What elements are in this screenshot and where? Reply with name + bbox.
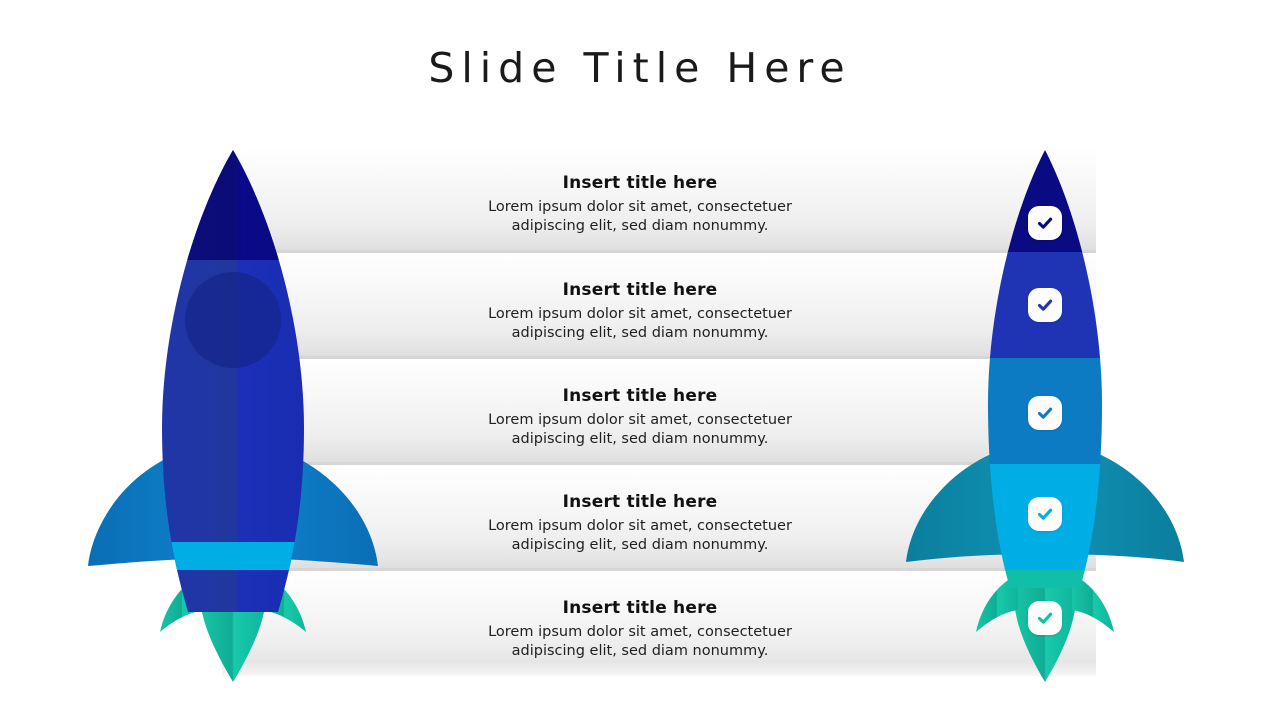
check-icon xyxy=(1035,213,1055,233)
row-text-1: Insert title here Lorem ipsum dolor sit … xyxy=(400,172,880,236)
page-title: Slide Title Here xyxy=(0,44,1280,92)
check-badge-row-2[interactable] xyxy=(1028,288,1062,322)
row-body-line-2: adipiscing elit, sed diam nonummy. xyxy=(400,324,880,343)
row-body: Lorem ipsum dolor sit amet, consectetuer… xyxy=(400,517,880,555)
check-icon xyxy=(1035,608,1055,628)
rocket-nose xyxy=(78,142,398,260)
rocket-window xyxy=(185,272,281,368)
row-body-line-2: adipiscing elit, sed diam nonummy. xyxy=(400,642,880,661)
row-body-line-1: Lorem ipsum dolor sit amet, consectetuer xyxy=(400,411,880,430)
check-icon xyxy=(1035,295,1055,315)
row-title: Insert title here xyxy=(400,597,880,619)
row-title: Insert title here xyxy=(400,385,880,407)
row-body: Lorem ipsum dolor sit amet, consectetuer… xyxy=(400,198,880,236)
rocket-illustration-large xyxy=(78,142,398,682)
check-badge-row-1[interactable] xyxy=(1028,206,1062,240)
check-badge-row-3[interactable] xyxy=(1028,396,1062,430)
row-body-line-2: adipiscing elit, sed diam nonummy. xyxy=(400,536,880,555)
row-text-5: Insert title here Lorem ipsum dolor sit … xyxy=(400,597,880,661)
row-text-3: Insert title here Lorem ipsum dolor sit … xyxy=(400,385,880,449)
row-body: Lorem ipsum dolor sit amet, consectetuer… xyxy=(400,411,880,449)
check-badge-row-5[interactable] xyxy=(1028,601,1062,635)
row-body: Lorem ipsum dolor sit amet, consectetuer… xyxy=(400,623,880,661)
check-icon xyxy=(1035,504,1055,524)
check-badge-row-4[interactable] xyxy=(1028,497,1062,531)
row-body: Lorem ipsum dolor sit amet, consectetuer… xyxy=(400,305,880,343)
row-body-line-1: Lorem ipsum dolor sit amet, consectetuer xyxy=(400,305,880,324)
row-title: Insert title here xyxy=(400,172,880,194)
row-title: Insert title here xyxy=(400,491,880,513)
row-body-line-2: adipiscing elit, sed diam nonummy. xyxy=(400,217,880,236)
row-text-2: Insert title here Lorem ipsum dolor sit … xyxy=(400,279,880,343)
check-icon xyxy=(1035,403,1055,423)
row-text-4: Insert title here Lorem ipsum dolor sit … xyxy=(400,491,880,555)
row-body-line-1: Lorem ipsum dolor sit amet, consectetuer xyxy=(400,198,880,217)
row-body-line-2: adipiscing elit, sed diam nonummy. xyxy=(400,430,880,449)
row-body-line-1: Lorem ipsum dolor sit amet, consectetuer xyxy=(400,517,880,536)
row-title: Insert title here xyxy=(400,279,880,301)
rocket-illustration-segmented xyxy=(890,142,1200,682)
row-body-line-1: Lorem ipsum dolor sit amet, consectetuer xyxy=(400,623,880,642)
slide-canvas: Slide Title Here xyxy=(0,0,1280,720)
